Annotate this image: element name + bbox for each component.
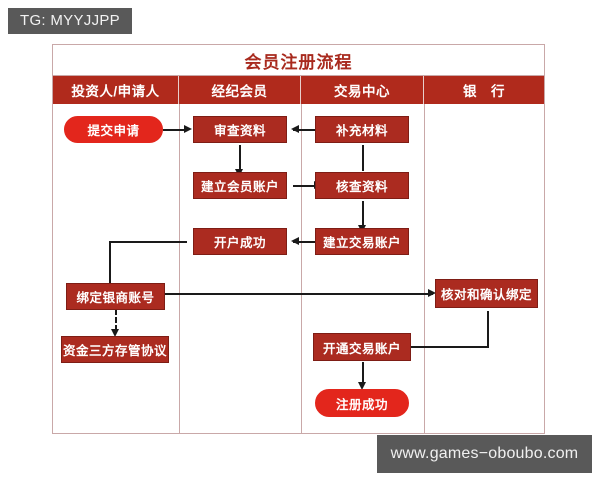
lane-header-broker: 经纪会员: [179, 76, 301, 104]
node-account-opened[interactable]: 开户成功: [193, 228, 287, 255]
node-verify-and-confirm-binding[interactable]: 核对和确认绑定: [435, 279, 538, 308]
edge-confirm-to-opentrade-v: [487, 311, 489, 347]
page-title: 会员注册流程: [245, 48, 353, 73]
lane-header-investor: 投资人/申请人: [53, 76, 179, 104]
edge-bind-to-confirm-line: [165, 293, 433, 295]
lane-header-row: 投资人/申请人 经纪会员 交易中心 银 行: [53, 76, 544, 104]
lane-header-exchange: 交易中心: [301, 76, 424, 104]
node-create-trading-account[interactable]: 建立交易账户: [315, 228, 409, 255]
screenshot-root: TG: MYYJJPP 会员注册流程 投资人/申请人 经纪会员 交易中心 银 行: [0, 0, 600, 480]
edge-createtrade-to-opensuccess-arrow: [291, 237, 299, 245]
edge-review-to-createmember-line: [239, 145, 241, 171]
node-third-party-custody-agreement[interactable]: 资金三方存管协议: [61, 336, 169, 363]
edge-supplement-to-review-arrow: [291, 125, 299, 133]
node-create-member-account[interactable]: 建立会员账户: [193, 172, 287, 199]
flowchart-title-row: 会员注册流程: [53, 45, 544, 76]
edge-opensuccess-to-bind-v: [109, 241, 111, 289]
node-open-trading-account[interactable]: 开通交易账户: [313, 333, 411, 361]
node-registration-success[interactable]: 注册成功: [315, 389, 409, 417]
site-watermark-badge: www.games−oboubo.com: [377, 435, 592, 473]
lane-separator-2: [301, 104, 302, 433]
lane-separator-1: [179, 104, 180, 433]
node-verify-materials[interactable]: 核查资料: [315, 172, 409, 199]
node-bind-bank-account[interactable]: 绑定银商账号: [66, 283, 165, 310]
edge-bind-to-custody-dashed: [115, 309, 117, 331]
edge-supplement-to-verify-line: [362, 145, 364, 171]
edge-verify-to-createtrade-line: [362, 201, 364, 227]
edge-opensuccess-to-bind-h: [109, 241, 187, 243]
lane-separator-3: [424, 104, 425, 433]
edge-opentrade-to-registered-line: [362, 362, 364, 384]
node-submit-application[interactable]: 提交申请: [64, 116, 163, 143]
flowchart-frame: 会员注册流程 投资人/申请人 经纪会员 交易中心 银 行: [52, 44, 545, 434]
node-review-materials[interactable]: 审查资料: [193, 116, 287, 143]
tg-watermark-badge: TG: MYYJJPP: [8, 8, 132, 34]
node-supplement-materials[interactable]: 补充材料: [315, 116, 409, 143]
edge-submit-to-review-arrow: [184, 125, 192, 133]
lane-header-bank: 银 行: [424, 76, 544, 104]
